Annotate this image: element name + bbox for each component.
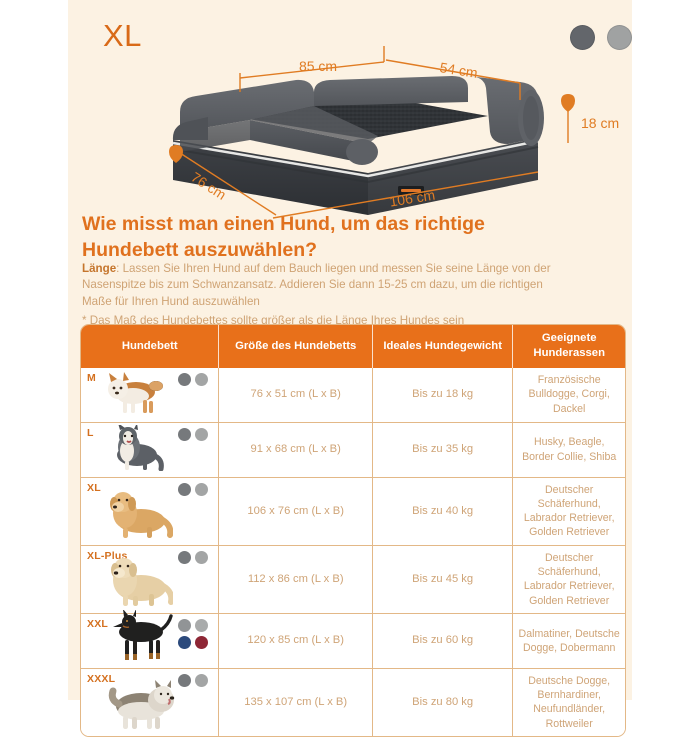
- bed-dimensions-cell: 120 x 85 cm (L x B): [218, 614, 371, 668]
- bed-dimensions-cell: 135 x 107 cm (L x B): [218, 669, 371, 736]
- bed-size-cell: XXL: [81, 614, 218, 668]
- row-color-swatches: [176, 373, 208, 386]
- bed-size-cell: XL: [81, 478, 218, 545]
- row-size-label: XL: [87, 482, 101, 494]
- dim-85cm: 85 cm: [299, 58, 337, 74]
- bed-size-cell: XXXL: [81, 669, 218, 736]
- color-swatch[interactable]: [195, 373, 208, 386]
- product-hero-image: 85 cm 54 cm 18 cm 76 cm 106 cm: [68, 40, 632, 215]
- dog-weight-cell: Bis zu 18 kg: [372, 368, 512, 422]
- color-swatch[interactable]: [195, 551, 208, 564]
- bed-dimensions-cell: 91 x 68 cm (L x B): [218, 423, 371, 477]
- color-swatch[interactable]: [178, 551, 191, 564]
- size-chart-table: Hundebett Größe des Hundebetts Ideales H…: [80, 324, 626, 737]
- row-size-label: L: [87, 427, 94, 439]
- dog-photo-labrador: [103, 557, 173, 612]
- bed-dimensions-cell: 106 x 76 cm (L x B): [218, 478, 371, 545]
- table-row: XL-Plus 112 x 86 cm (L x B)Bis zu 45 kgD…: [81, 545, 625, 613]
- table-row: XL 106 x 76 cm (L x B)Bis zu 40 kgDeutsc…: [81, 477, 625, 545]
- dog-breeds-cell: Französische Bulldogge, Corgi, Dackel: [512, 368, 625, 422]
- color-swatch[interactable]: [178, 483, 191, 496]
- dog-breeds-cell: Dalmatiner, Deutsche Dogge, Dobermann: [512, 614, 625, 668]
- dog-breeds-cell: Deutsche Dogge, Bernhardiner, Neufundlän…: [512, 669, 625, 736]
- dog-weight-cell: Bis zu 60 kg: [372, 614, 512, 668]
- column-header-size: Größe des Hundebetts: [218, 325, 371, 368]
- dog-weight-cell: Bis zu 45 kg: [372, 546, 512, 613]
- bed-size-cell: L: [81, 423, 218, 477]
- table-row: M 76 x 51 cm (L x B)Bis zu 18 kgFranzösi…: [81, 368, 625, 422]
- color-swatch[interactable]: [178, 428, 191, 441]
- bed-size-cell: XL-Plus: [81, 546, 218, 613]
- instruction-text: : Lassen Sie Ihren Hund auf dem Bauch li…: [82, 262, 551, 308]
- dog-weight-cell: Bis zu 40 kg: [372, 478, 512, 545]
- dog-photo-golden-retriever: [103, 491, 173, 544]
- measuring-instructions: Länge: Lassen Sie Ihren Hund auf dem Bau…: [82, 261, 562, 330]
- dog-photo-malamute: [103, 680, 179, 735]
- dog-weight-cell: Bis zu 80 kg: [372, 669, 512, 736]
- page-title: Wie misst man einen Hund, um das richtig…: [82, 212, 552, 264]
- column-header-breeds: Geeignete Hunderassen: [512, 325, 625, 368]
- row-color-swatches: [176, 428, 208, 441]
- row-color-swatches: [176, 551, 208, 564]
- dim-18cm: 18 cm: [581, 115, 619, 131]
- bed-dimensions-cell: 112 x 86 cm (L x B): [218, 546, 371, 613]
- column-header-bed: Hundebett: [81, 325, 218, 368]
- color-swatch[interactable]: [195, 619, 208, 632]
- color-swatch[interactable]: [195, 636, 208, 649]
- color-swatch[interactable]: [195, 483, 208, 496]
- dog-breeds-cell: Husky, Beagle, Border Collie, Shiba: [512, 423, 625, 477]
- color-swatch[interactable]: [178, 674, 191, 687]
- row-color-swatches: [176, 674, 208, 687]
- table-header-row: Hundebett Größe des Hundebetts Ideales H…: [81, 325, 625, 368]
- row-color-swatches: [176, 483, 208, 496]
- table-row: XXL 120 x 85 cm (L x B)Bis zu 60 kgDalma…: [81, 613, 625, 668]
- table-row: XXXL 135 x 107 cm (L x B)Bis zu 80 kgDeu…: [81, 668, 625, 736]
- color-swatch[interactable]: [195, 428, 208, 441]
- color-swatch[interactable]: [178, 619, 191, 632]
- dog-weight-cell: Bis zu 35 kg: [372, 423, 512, 477]
- dog-photo-corgi: [103, 372, 165, 421]
- dog-breeds-cell: Deutscher Schäferhund, Labrador Retrieve…: [512, 546, 625, 613]
- color-swatch[interactable]: [178, 636, 191, 649]
- color-swatch[interactable]: [178, 373, 191, 386]
- column-header-weight: Ideales Hundegewicht: [372, 325, 512, 368]
- row-size-label: M: [87, 372, 96, 384]
- dog-photo-border-collie: [103, 425, 165, 476]
- dog-photo-doberman: [103, 610, 175, 667]
- row-color-swatches: [176, 619, 208, 649]
- bed-size-cell: M: [81, 368, 218, 422]
- laenge-label: Länge: [82, 262, 116, 275]
- table-row: L 91 x 68 cm (L x B)Bis zu 35 kgHusky, B…: [81, 422, 625, 477]
- dog-breeds-cell: Deutscher Schäferhund, Labrador Retrieve…: [512, 478, 625, 545]
- color-swatch[interactable]: [195, 674, 208, 687]
- bed-dimensions-cell: 76 x 51 cm (L x B): [218, 368, 371, 422]
